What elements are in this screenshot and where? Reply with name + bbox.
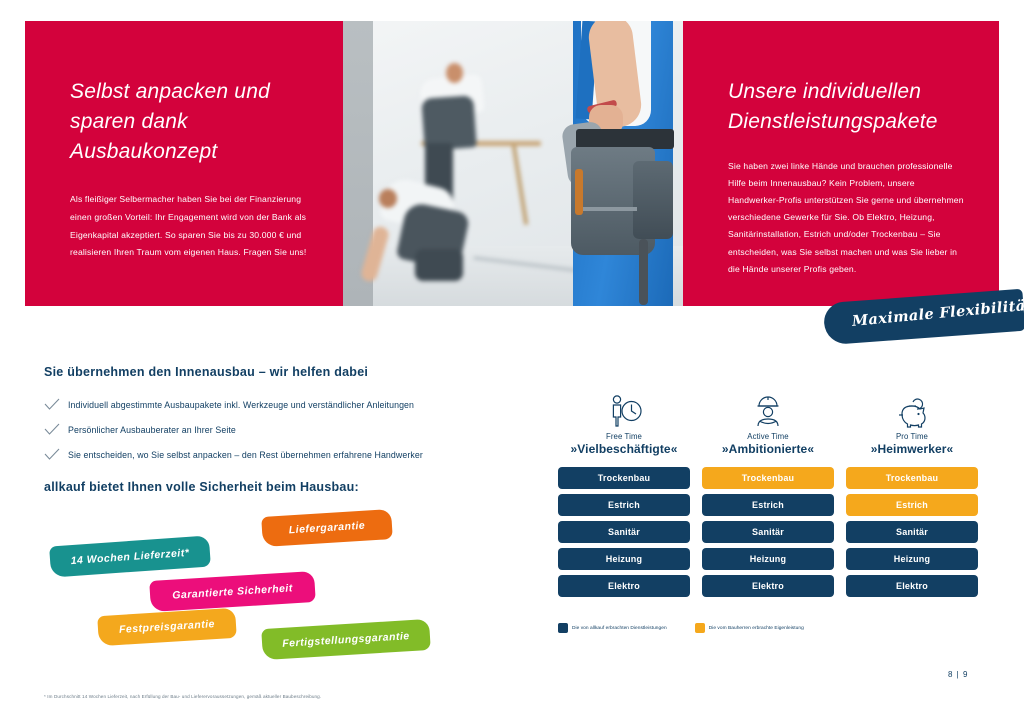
service-cell-heizung: Heizung [702, 548, 834, 570]
service-packages-table: Free Time »Vielbeschäftigte« Trockenbau … [558, 390, 978, 602]
check-icon [44, 398, 68, 411]
package-service-list: Trockenbau Estrich Sanitär Heizung Elekt… [846, 467, 978, 597]
piggy-bank-icon [846, 390, 978, 428]
flex-badge-label: Maximale Flexibilität [851, 296, 1024, 329]
legend-item-bauherr: Die vom Bauherren erbrachte Eigenleistun… [695, 623, 804, 633]
badge-label: Liefergarantie [288, 520, 365, 537]
footnote: * Im Durchschnitt 14 Wochen Lieferzeit, … [44, 694, 564, 701]
badge-liefergarantie: Liefergarantie [261, 509, 393, 547]
package-title: »Vielbeschäftigte« [558, 442, 690, 456]
page-number: 8 | 9 [948, 670, 968, 679]
service-cell-trockenbau: Trockenbau [846, 467, 978, 489]
service-cell-sanitaer: Sanitär [846, 521, 978, 543]
service-cell-heizung: Heizung [846, 548, 978, 570]
package-column-pro-time: Pro Time »Heimwerker« Trockenbau Estrich… [846, 390, 978, 602]
worker-helmet-icon [702, 390, 834, 428]
badge-label: Garantierte Sicherheit [172, 582, 293, 601]
service-cell-elektro: Elektro [702, 575, 834, 597]
service-cell-elektro: Elektro [558, 575, 690, 597]
badge-fertigstellungsgarantie: Fertigstellungsgarantie [261, 619, 431, 660]
service-cell-estrich: Estrich [558, 494, 690, 516]
legend-swatch-navy [558, 623, 568, 633]
list-item: Individuell abgestimmte Ausbaupakete ink… [44, 392, 464, 417]
table-legend: Die von allkauf erbrachten Dienstleistun… [558, 623, 804, 633]
legend-swatch-gold [695, 623, 705, 633]
package-column-free-time: Free Time »Vielbeschäftigte« Trockenbau … [558, 390, 690, 602]
badge-14-wochen-lieferzeit: 14 Wochen Lieferzeit* [49, 535, 211, 577]
person-clock-icon [558, 390, 690, 428]
package-subtitle: Free Time [558, 432, 690, 441]
package-column-active-time: Active Time »Ambitionierte« Trockenbau E… [702, 390, 834, 602]
legend-label: Die von allkauf erbrachten Dienstleistun… [572, 626, 667, 631]
service-cell-trockenbau: Trockenbau [558, 467, 690, 489]
checklist-label: Individuell abgestimmte Ausbaupakete ink… [68, 400, 414, 410]
hero-photo [343, 21, 683, 306]
checklist-label: Persönlicher Ausbauberater an Ihrer Seit… [68, 425, 236, 435]
service-cell-trockenbau: Trockenbau [702, 467, 834, 489]
check-icon [44, 423, 68, 436]
list-item: Sie entscheiden, wo Sie selbst anpacken … [44, 442, 464, 467]
package-subtitle: Active Time [702, 432, 834, 441]
benefit-checklist: Individuell abgestimmte Ausbaupakete ink… [44, 392, 464, 467]
badge-label: Festpreisgarantie [119, 618, 216, 636]
legend-label: Die vom Bauherren erbrachte Eigenleistun… [709, 626, 804, 631]
service-cell-elektro: Elektro [846, 575, 978, 597]
badge-garantierte-sicherheit: Garantierte Sicherheit [149, 571, 316, 612]
service-cell-sanitaer: Sanitär [558, 521, 690, 543]
brochure-page: Selbst anpacken und sparen dank Ausbauko… [0, 0, 1024, 725]
check-icon [44, 448, 68, 461]
hero-left-title: Selbst anpacken und sparen dank Ausbauko… [70, 77, 315, 166]
list-item: Persönlicher Ausbauberater an Ihrer Seit… [44, 417, 464, 442]
package-service-list: Trockenbau Estrich Sanitär Heizung Elekt… [702, 467, 834, 597]
hero-band: Selbst anpacken und sparen dank Ausbauko… [0, 0, 1024, 330]
service-cell-sanitaer: Sanitär [702, 521, 834, 543]
checklist-label: Sie entscheiden, wo Sie selbst anpacken … [68, 450, 423, 460]
service-cell-estrich: Estrich [846, 494, 978, 516]
package-subtitle: Pro Time [846, 432, 978, 441]
package-title: »Ambitionierte« [702, 442, 834, 456]
package-title: »Heimwerker« [846, 442, 978, 456]
service-cell-heizung: Heizung [558, 548, 690, 570]
hero-right-body: Sie haben zwei linke Hände und brauchen … [728, 158, 968, 278]
badge-label: Fertigstellungsgarantie [282, 630, 410, 650]
package-service-list: Trockenbau Estrich Sanitär Heizung Elekt… [558, 467, 690, 597]
hero-right-title: Unsere individuellen Dienstleistungspake… [728, 77, 968, 137]
service-cell-estrich: Estrich [702, 494, 834, 516]
hero-left-body: Als fleißiger Selbermacher haben Sie bei… [70, 191, 315, 261]
hero-right-panel: Unsere individuellen Dienstleistungspake… [683, 21, 999, 306]
badge-festpreisgarantie: Festpreisgarantie [97, 608, 237, 646]
innenausbau-heading: Sie übernehmen den Innenausbau – wir hel… [44, 365, 368, 379]
hero-left-panel: Selbst anpacken und sparen dank Ausbauko… [25, 21, 343, 306]
sicherheit-heading: allkauf bietet Ihnen volle Sicherheit be… [44, 480, 359, 494]
legend-item-allkauf: Die von allkauf erbrachten Dienstleistun… [558, 623, 667, 633]
badge-label: 14 Wochen Lieferzeit* [70, 546, 189, 566]
